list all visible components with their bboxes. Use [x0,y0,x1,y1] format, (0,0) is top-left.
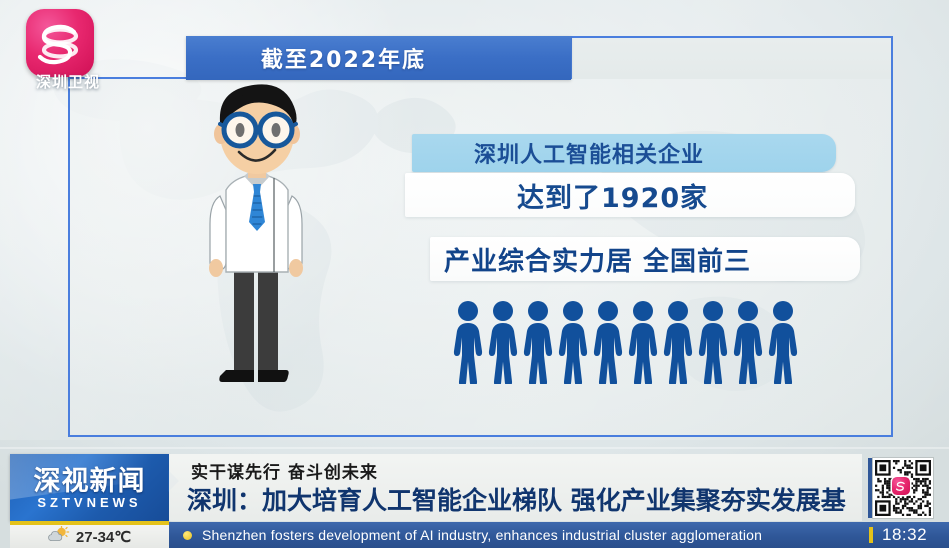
channel-name: 深圳卫视 [22,71,114,92]
qr-code[interactable] [873,458,933,518]
info-band-2: 达到了1920家 [405,173,855,217]
weather-temperature: 27-34℃ [76,528,131,546]
qr-center-logo-icon [892,477,910,495]
lower-third-top-rule [0,447,949,449]
info-band-2-text: 达到了1920家 [517,176,708,215]
cartoon-scientist-figure-icon [182,72,332,392]
channel-logo: 深圳卫视 [26,9,94,77]
person-pictogram-icon [487,300,519,384]
qr-accent-bar [868,458,872,518]
person-pictogram-icon [662,300,694,384]
program-logo: 深视新闻 SZTVNEWS [10,454,169,521]
sun-cloud-icon [48,526,70,547]
headline-kicker: 实干谋先行 奋斗创未来 [191,458,378,483]
clock-text: 18:32 [882,525,927,545]
person-pictogram-icon [452,300,484,384]
headline-box: 实干谋先行 奋斗创未来 深圳：加大培育人工智能企业梯队 强化产业集聚夯实发展基础 [169,454,862,521]
subtitle-text: Shenzhen fosters development of AI indus… [202,527,762,543]
people-pictogram-row [452,300,802,384]
person-pictogram-icon [697,300,729,384]
info-band-1: 深圳人工智能相关企业 [412,134,836,172]
person-pictogram-icon [522,300,554,384]
person-pictogram-icon [732,300,764,384]
info-band-3-text: 产业综合实力居 全国前三 [444,241,751,278]
person-pictogram-icon [767,300,799,384]
info-band-1-text: 深圳人工智能相关企业 [474,137,704,169]
panel-top-extension [570,36,893,79]
yellow-dot-icon [183,531,192,540]
person-pictogram-icon [627,300,659,384]
clock-tick-icon [869,527,873,543]
person-pictogram-icon [592,300,624,384]
sztv-s-swirl-logo-icon [26,9,94,77]
lower-third: 深视新闻 SZTVNEWS 27-34℃ 实干谋先行 奋斗创未来 深圳：加大培育… [0,447,949,548]
program-logo-en: SZTVNEWS [10,495,169,510]
subtitle-bar: Shenzhen fosters development of AI indus… [169,522,862,548]
info-band-3: 产业综合实力居 全国前三 [430,237,860,281]
broadcast-screen: 截至2022年底 深圳卫视 [0,0,949,548]
program-logo-cn: 深视新闻 [10,459,169,498]
clock-bar: 18:32 [862,522,949,548]
weather-strip: 27-34℃ [10,525,169,548]
banner-title: 截至2022年底 [261,42,426,74]
person-pictogram-icon [557,300,589,384]
